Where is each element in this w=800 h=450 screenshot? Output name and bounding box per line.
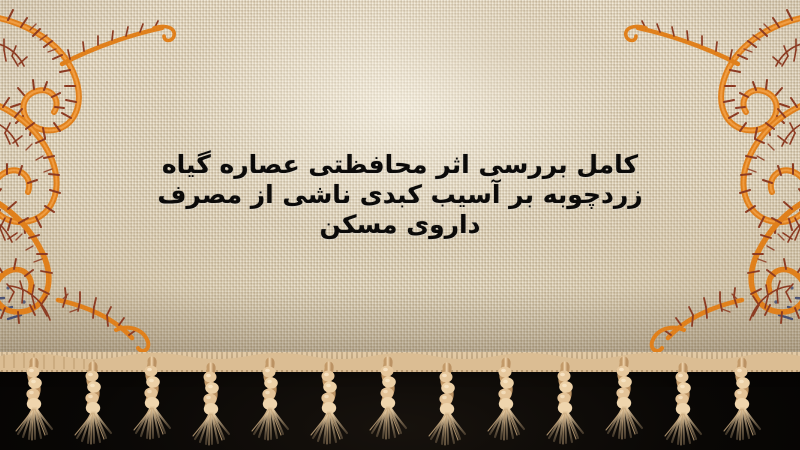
cloth-selvage-edge [0, 352, 800, 372]
linen-cloth-ground [0, 0, 800, 368]
title-card-stage: کامل بررسی اثر محافظتی عصاره گیاه زردچوب… [0, 0, 800, 450]
